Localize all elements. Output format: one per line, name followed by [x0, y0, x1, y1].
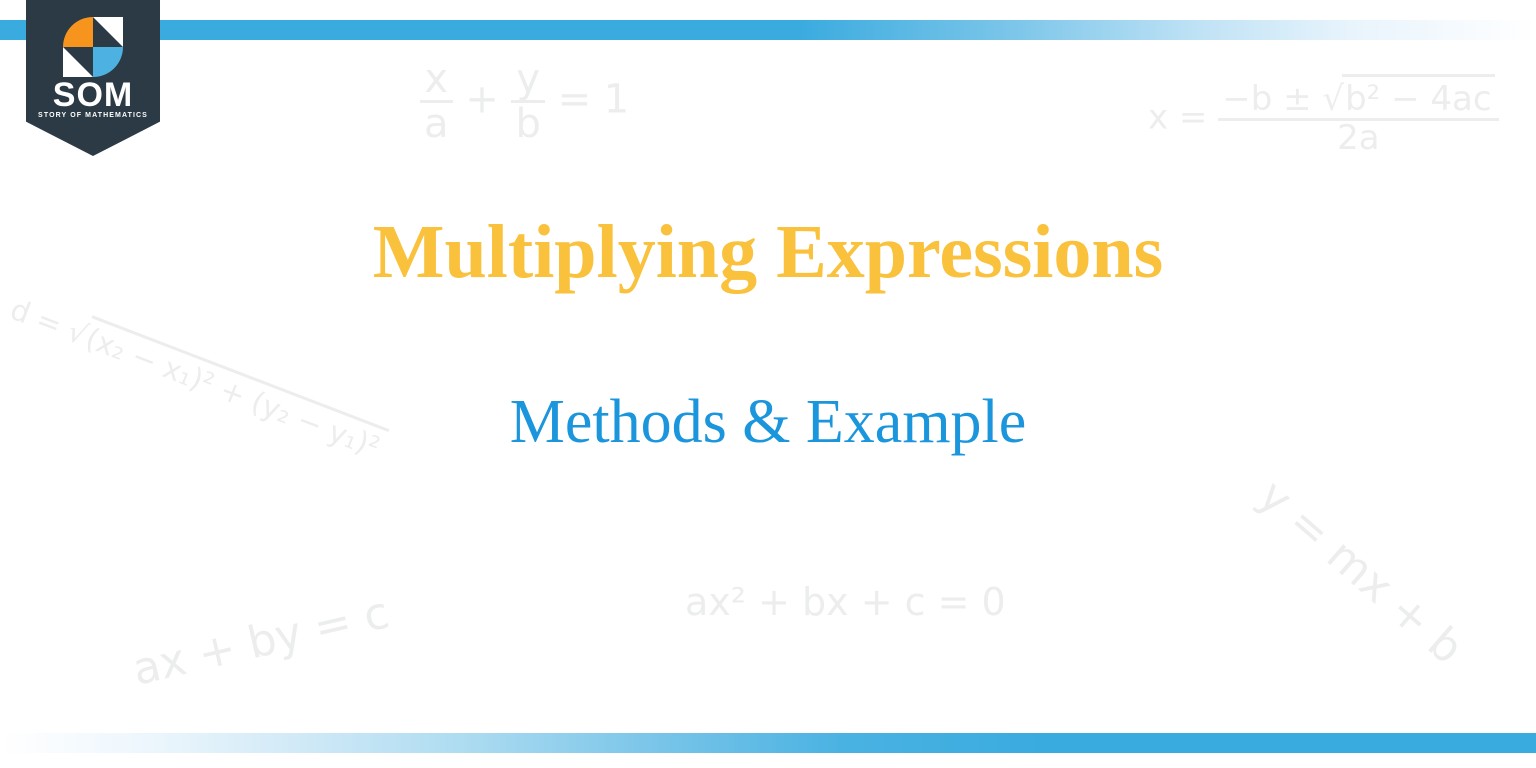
numerator-x: x: [420, 58, 453, 100]
plus-operator: +: [465, 77, 499, 123]
monogram-quarter-orange: [63, 17, 93, 47]
quadratic-numerator: −b ± √b² − 4ac: [1218, 82, 1498, 118]
monogram-triangle-white-top: [93, 17, 123, 47]
page-subtitle: Methods & Example: [0, 390, 1536, 455]
slide-canvas: x a + y b = 1 x = −b ± √b² − 4ac 2a d = …: [0, 0, 1536, 768]
fraction-x-over-a: x a: [420, 58, 453, 145]
numerator-y: y: [511, 58, 544, 100]
formula-quadratic-standard: ax² + bx + c = 0: [685, 580, 1006, 624]
formula-intercept-form: x a + y b = 1: [420, 58, 629, 145]
quadratic-radicand: b² − 4ac: [1342, 74, 1494, 119]
equals-one: = 1: [558, 77, 630, 123]
denominator-b: b: [511, 100, 544, 145]
logo-wordmark: SOM: [26, 78, 160, 112]
fraction-y-over-b: y b: [511, 58, 544, 145]
radical-icon: √: [1322, 79, 1344, 119]
page-title: Multiplying Expressions: [0, 213, 1536, 293]
bottom-accent-bar: [0, 733, 1536, 753]
quadratic-lhs: x =: [1148, 98, 1207, 138]
quadratic-fraction: −b ± √b² − 4ac 2a: [1218, 82, 1498, 156]
quadratic-denominator: 2a: [1218, 118, 1498, 157]
som-logo[interactable]: SOM STORY OF MATHEMATICS: [26, 0, 160, 156]
numerator-prefix: −b ±: [1222, 79, 1311, 119]
som-monogram-icon: [63, 17, 123, 77]
monogram-triangle-white-bottom: [63, 47, 93, 77]
formula-quadratic: x = −b ± √b² − 4ac 2a: [1148, 82, 1499, 156]
top-accent-bar: [0, 20, 1536, 40]
logo-tagline: STORY OF MATHEMATICS: [26, 112, 160, 119]
monogram-quarter-blue: [93, 47, 123, 77]
formula-linear-standard: ax + by = c: [128, 587, 394, 695]
denominator-a: a: [420, 100, 453, 145]
formula-slope-intercept: y = mx + b: [1249, 470, 1473, 674]
distance-lhs: d =: [6, 292, 67, 342]
